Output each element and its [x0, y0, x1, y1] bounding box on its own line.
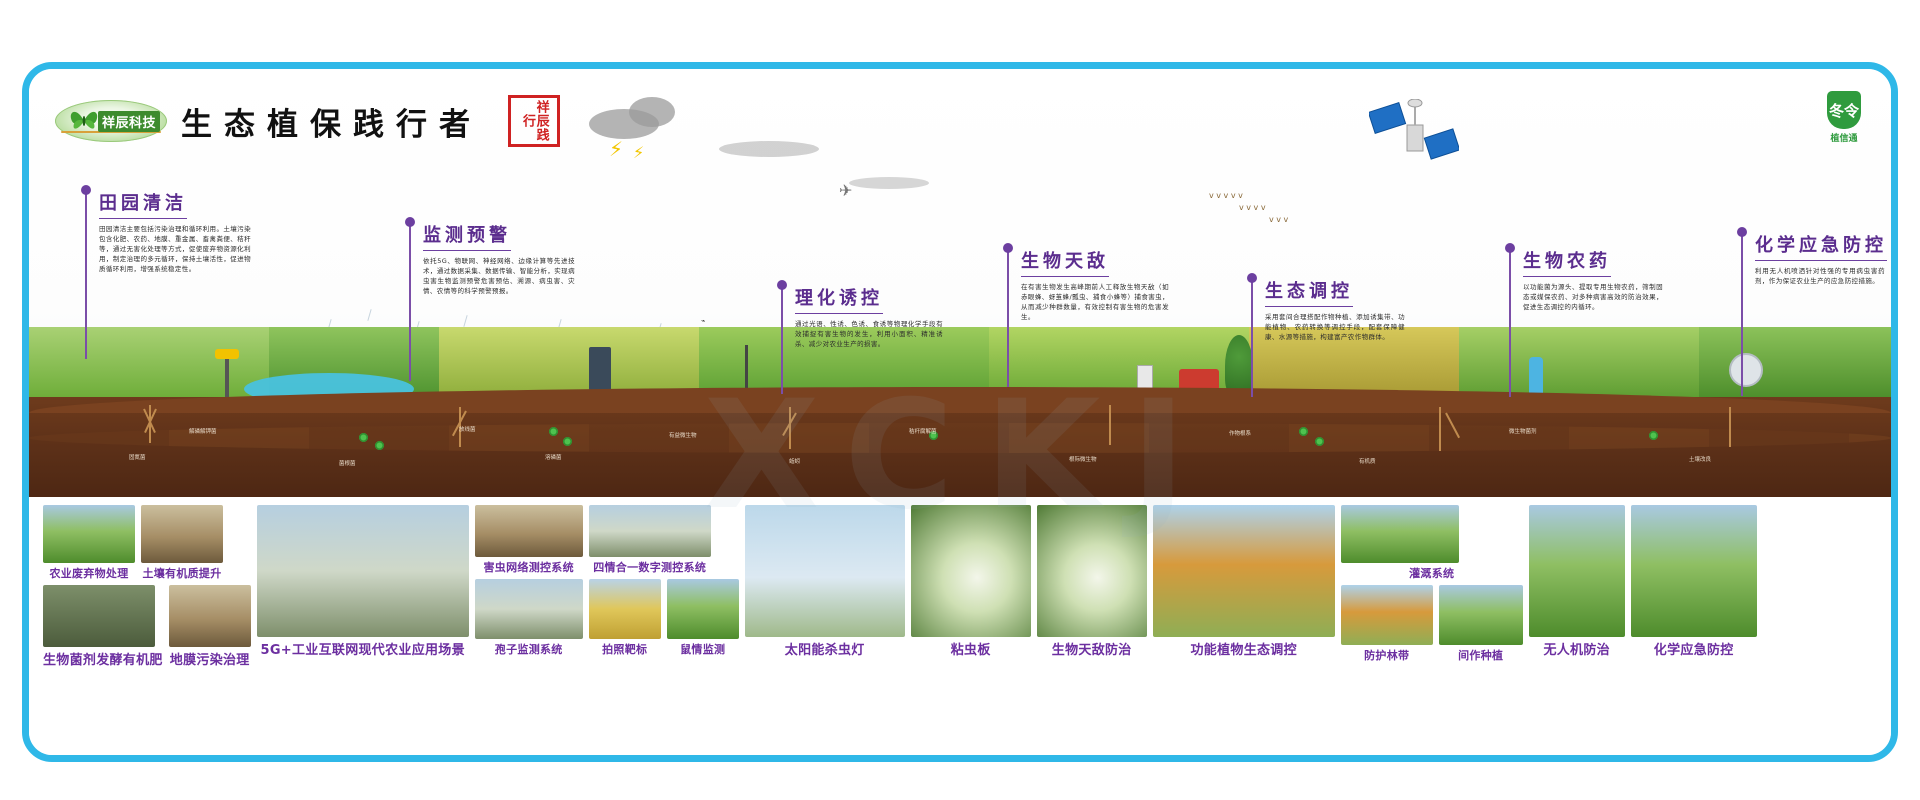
- gallery-item[interactable]: 防护林带: [1341, 585, 1433, 663]
- callout-text: 以功能菌为源头、提取专用生物农药，筛制固态或媒保农药、对多种病害高效的防治效果，…: [1523, 282, 1663, 312]
- callout-dot-icon: [81, 185, 91, 195]
- callout-dot-icon: [1003, 243, 1013, 253]
- photo-caption: 四情合一数字测控系统: [589, 559, 711, 575]
- gallery-item[interactable]: 太阳能杀虫灯: [745, 505, 905, 658]
- gallery-item[interactable]: 化学应急防控: [1631, 505, 1757, 658]
- soil-wave: [29, 423, 1891, 453]
- photo[interactable]: [43, 585, 155, 647]
- geese-flock-icon: v v v: [1269, 215, 1288, 224]
- soil-label: 固氮菌: [129, 453, 146, 461]
- photo-caption: 土壤有机质提升: [141, 565, 223, 581]
- gallery-item[interactable]: 灌溉系统: [1341, 505, 1523, 581]
- corner-brand-caption: 植信通: [1830, 131, 1857, 144]
- swallow-icon: ⌁: [701, 317, 705, 325]
- microbe-icon: [1299, 427, 1308, 436]
- gallery-item[interactable]: 地膜污染治理: [169, 585, 251, 668]
- corner-brand: 冬令 植信通: [1827, 91, 1861, 144]
- microbe-icon: [1649, 431, 1658, 440]
- callout-eco-regulation: 生态调控 采用套间合理搭配作物种植、添加诱集带、功能植物、农药转换等调控手段，配…: [1251, 277, 1405, 342]
- photo-caption: 灌溉系统: [1341, 565, 1523, 581]
- photo-caption: 粘虫板: [911, 639, 1031, 658]
- soil-label: 菌根菌: [339, 459, 356, 467]
- microbe-icon: [1315, 437, 1324, 446]
- callout-farm-clean: 田园清洁 田园清洁主要包括污染治理和循环利用。土壤污染包含化肥、农药、地膜、重金…: [85, 189, 251, 274]
- callout-title: 田园清洁: [99, 189, 187, 219]
- callout-dot-icon: [777, 280, 787, 290]
- photo-caption: 防护林带: [1341, 647, 1433, 663]
- photo-gallery: 农业废弃物处理 土壤有机质提升 生物菌剂发酵有机肥 地膜污染治理: [29, 497, 1891, 755]
- brand-logo-text: 祥辰科技: [98, 111, 160, 132]
- photo[interactable]: [43, 505, 135, 563]
- callout-title: 生物天敌: [1021, 247, 1109, 277]
- callout-dot-icon: [1247, 273, 1257, 283]
- equipment-insect-lamp-head: [215, 349, 239, 359]
- soil-label: 根际微生物: [1069, 455, 1097, 463]
- callout-dot-icon: [1505, 243, 1515, 253]
- callout-physical-chemical: 理化诱控 通过光语、性诱、色诱、食诱等物理化学手段有效捕捉有害生物的发生，利用小…: [781, 284, 943, 349]
- soil-label: 溶磷菌: [545, 453, 562, 461]
- photo[interactable]: [589, 505, 711, 557]
- geese-flock-icon: v v v v v: [1209, 191, 1243, 200]
- gallery-item[interactable]: 生物菌剂发酵有机肥: [43, 585, 163, 668]
- photo-caption: 无人机防治: [1529, 639, 1625, 658]
- illustration-scene: 祥辰科技 生态植保践行者 祥辰践行 冬令 植信通 ⚡ ⚡ ✈: [29, 69, 1891, 509]
- farmer-figure: [1529, 357, 1543, 397]
- gallery-item[interactable]: 农业废弃物处理: [43, 505, 135, 581]
- poster-header: 祥辰科技 生态植保践行者 祥辰践行: [55, 95, 560, 147]
- lightning-icon: ⚡: [609, 137, 623, 161]
- callout-text: 田园清洁主要包括污染治理和循环利用。土壤污染包含化肥、农药、地膜、重金属、畜禽粪…: [99, 224, 251, 274]
- photo[interactable]: [1631, 505, 1757, 637]
- equipment-radar-dish: [1729, 353, 1763, 387]
- gallery-group-5g: 5G+工业互联网现代农业应用场景: [257, 505, 469, 658]
- photo-caption: 间作种植: [1439, 647, 1523, 663]
- gallery-group-natural-enemy: 生物天敌防治: [1037, 505, 1147, 658]
- gallery-item[interactable]: 土壤有机质提升: [141, 505, 223, 581]
- callout-text: 采用套间合理搭配作物种植、添加诱集带、功能植物、农药转换等调控手段，配套保障健康…: [1265, 312, 1405, 342]
- photo[interactable]: [589, 579, 661, 639]
- gallery-group-monitoring: 害虫网络测控系统 四情合一数字测控系统 孢子监测系统 拍照靶标: [475, 505, 739, 657]
- callout-bio-pesticide: 生物农药 以功能菌为源头、提取专用生物农药，筛制固态或媒保农药、对多种病害高效的…: [1509, 247, 1663, 312]
- geese-flock-icon: v v v v: [1239, 203, 1266, 212]
- gallery-group-lamp: 太阳能杀虫灯: [745, 505, 905, 658]
- photo[interactable]: [475, 579, 583, 639]
- photo-caption: 害虫网络测控系统: [475, 559, 583, 575]
- microbe-icon: [375, 441, 384, 450]
- callout-monitor-warning: 监测预警 依托5G、物联网、神经网络、边缘计算等先进技术，通过数据采集、数据传输…: [409, 221, 575, 296]
- shield-icon: 冬令: [1827, 91, 1861, 129]
- callout-dot-icon: [405, 217, 415, 227]
- photo-caption: 地膜污染治理: [169, 649, 251, 668]
- callout-natural-enemies: 生物天敌 在有害生物发生高峰期前人工释放生物天敌（如赤眼蜂、蚜茧蜂/瓢虫、捕食小…: [1007, 247, 1169, 322]
- gallery-item[interactable]: 粘虫板: [911, 505, 1031, 658]
- microbe-icon: [563, 437, 572, 446]
- callout-dot-icon: [1737, 227, 1747, 237]
- gallery-item[interactable]: 鼠情监测: [667, 579, 739, 657]
- drone-icon: ✈: [839, 181, 852, 200]
- photo-caption: 功能植物生态调控: [1153, 639, 1335, 658]
- cloud-icon: [719, 141, 819, 157]
- soil-label: 微生物菌剂: [1509, 427, 1537, 435]
- gallery-item[interactable]: 生物天敌防治: [1037, 505, 1147, 658]
- gallery-group-eco: 灌溉系统 防护林带 间作种植: [1341, 505, 1523, 663]
- gallery-group-drone: 无人机防治: [1529, 505, 1625, 658]
- photo[interactable]: [745, 505, 905, 637]
- gallery-item[interactable]: 害虫网络测控系统: [475, 505, 583, 575]
- poster-frame: 祥辰科技 生态植保践行者 祥辰践行 冬令 植信通 ⚡ ⚡ ✈: [22, 62, 1898, 762]
- callout-title: 化学应急防控: [1755, 231, 1887, 261]
- photo[interactable]: [1153, 505, 1335, 637]
- photo-caption: 化学应急防控: [1631, 639, 1757, 658]
- photo-caption: 5G+工业互联网现代农业应用场景: [257, 639, 469, 658]
- cloud-icon: [849, 177, 929, 189]
- gallery-item[interactable]: 间作种植: [1439, 585, 1523, 663]
- soil-label: 解磷解钾菌: [189, 427, 217, 435]
- photo[interactable]: [911, 505, 1031, 637]
- gallery-item[interactable]: 拍照靶标: [589, 579, 661, 657]
- callout-chemical-emergency: 化学应急防控 利用无人机喷洒针对性强的专用病虫害药剂，作为保证农业生产的应急防控…: [1741, 231, 1885, 286]
- gallery-item[interactable]: 功能植物生态调控: [1153, 505, 1335, 658]
- soil-label: 蚯蚓: [789, 457, 800, 465]
- callout-title: 监测预警: [423, 221, 511, 251]
- gallery-item[interactable]: 四情合一数字测控系统: [589, 505, 711, 575]
- seal-stamp: 祥辰践行: [508, 95, 560, 147]
- photo[interactable]: [1341, 585, 1433, 645]
- cloud-icon: [629, 97, 675, 127]
- photo-caption: 生物菌剂发酵有机肥: [43, 649, 163, 668]
- photo[interactable]: [667, 579, 739, 639]
- gallery-item[interactable]: 无人机防治: [1529, 505, 1625, 658]
- soil-label: 放线菌: [459, 425, 476, 433]
- callout-text: 通过光语、性诱、色诱、食诱等物理化学手段有效捕捉有害生物的发生，利用小面积、精准…: [795, 319, 943, 349]
- callout-title: 生物农药: [1523, 247, 1611, 277]
- soil-label: 秸秆腐解菌: [909, 427, 937, 435]
- butterfly-icon: [67, 104, 101, 138]
- gallery-group-chemical: 化学应急防控: [1631, 505, 1757, 658]
- photo[interactable]: [475, 505, 583, 557]
- poster-root: 祥辰科技 生态植保践行者 祥辰践行 冬令 植信通 ⚡ ⚡ ✈: [0, 0, 1920, 800]
- photo-caption: 太阳能杀虫灯: [745, 639, 905, 658]
- photo-caption: 生物天敌防治: [1037, 639, 1147, 658]
- callout-text: 依托5G、物联网、神经网络、边缘计算等先进技术，通过数据采集、数据传输、智能分析…: [423, 256, 575, 296]
- photo-caption: 鼠情监测: [667, 641, 739, 657]
- satellite-icon: [1369, 99, 1459, 179]
- soil-layer: 固氮菌 解磷解钾菌 菌根菌 放线菌 溶磷菌 有益微生物 蚯蚓 秸秆腐解菌 根际微…: [29, 397, 1891, 509]
- soil-label: 土壤改良: [1689, 455, 1711, 463]
- gallery-group-functional-plants: 功能植物生态调控: [1153, 505, 1335, 658]
- gallery-item[interactable]: 5G+工业互联网现代农业应用场景: [257, 505, 469, 658]
- callout-text: 在有害生物发生高峰期前人工释放生物天敌（如赤眼蜂、蚜茧蜂/瓢虫、捕食小蜂等）捕食…: [1021, 282, 1169, 322]
- microbe-icon: [549, 427, 558, 436]
- gallery-item[interactable]: 孢子监测系统: [475, 579, 583, 657]
- photo[interactable]: [1037, 505, 1147, 637]
- photo-caption: 农业废弃物处理: [43, 565, 135, 581]
- photo[interactable]: [1529, 505, 1625, 637]
- brand-logo: 祥辰科技: [55, 100, 167, 142]
- page-title: 生态植保践行者: [181, 99, 482, 144]
- photo-caption: 孢子监测系统: [475, 641, 583, 657]
- photo[interactable]: [1341, 505, 1459, 563]
- photo[interactable]: [169, 585, 251, 647]
- equipment-insect-lamp: [225, 355, 229, 397]
- microbe-icon: [359, 433, 368, 442]
- lightning-icon: ⚡: [633, 143, 644, 162]
- soil-label: 有益微生物: [669, 431, 697, 439]
- soil-label: 有机质: [1359, 457, 1376, 465]
- callout-text: 利用无人机喷洒针对性强的专用病虫害药剂，作为保证农业生产的应急防控措施。: [1755, 266, 1885, 286]
- photo[interactable]: [1439, 585, 1523, 645]
- gallery-group-farm-clean: 农业废弃物处理 土壤有机质提升 生物菌剂发酵有机肥 地膜污染治理: [43, 505, 251, 668]
- photo[interactable]: [257, 505, 469, 637]
- callout-title: 理化诱控: [795, 284, 883, 314]
- photo[interactable]: [141, 505, 223, 563]
- gallery-group-sticky-board: 粘虫板: [911, 505, 1031, 658]
- callout-title: 生态调控: [1265, 277, 1353, 307]
- soil-label: 作物根系: [1229, 429, 1251, 437]
- photo-caption: 拍照靶标: [589, 641, 661, 657]
